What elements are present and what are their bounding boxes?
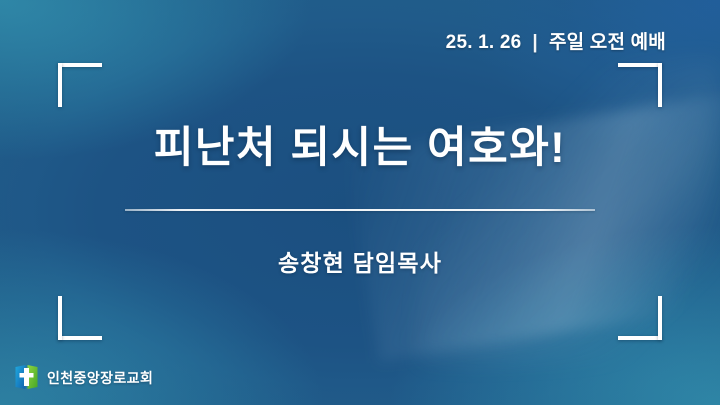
- open-door-cross-icon: [14, 364, 39, 391]
- slide-content: 피난처 되시는 여호와! 송창현 담임목사: [58, 63, 662, 340]
- header-separator: |: [530, 32, 540, 54]
- church-logo: 인천중앙장로교회: [14, 364, 153, 391]
- slide-header: 25. 1. 26 | 주일 오전 예배: [446, 27, 666, 54]
- speaker-name: 송창현 담임목사: [278, 244, 442, 278]
- title-divider: [125, 209, 595, 211]
- service-name: 주일 오전 예배: [549, 27, 666, 54]
- sermon-title-slide: 25. 1. 26 | 주일 오전 예배 피난처 되시는 여호와! 송창현 담임…: [0, 0, 720, 405]
- service-date: 25. 1. 26: [446, 32, 522, 54]
- church-name: 인천중앙장로교회: [47, 368, 153, 388]
- sermon-title: 피난처 되시는 여호와!: [154, 125, 566, 172]
